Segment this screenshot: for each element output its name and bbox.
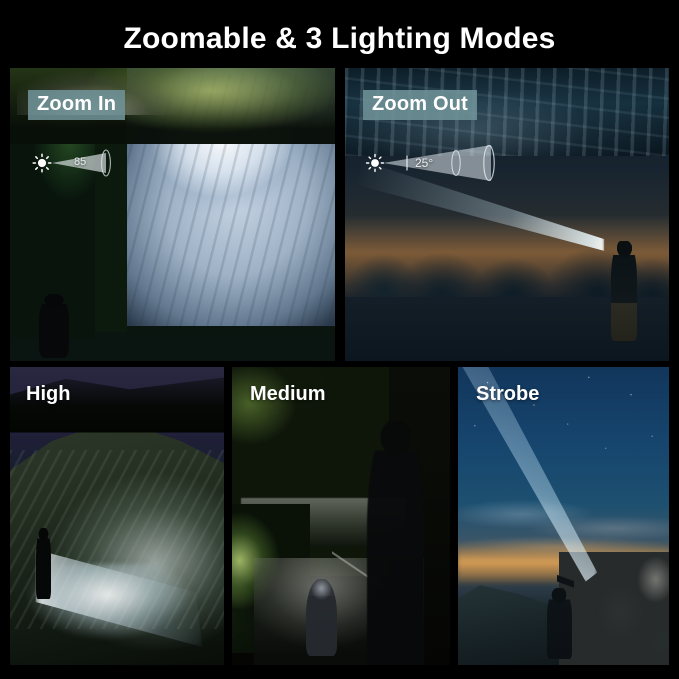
person-silhouette xyxy=(547,588,572,660)
sun-icon xyxy=(367,155,384,172)
panel-zoom-in: Zoom In 85 xyxy=(10,68,335,361)
zoom-in-label: Zoom In xyxy=(28,90,125,120)
foreground-rocks xyxy=(559,552,669,665)
person-silhouette xyxy=(367,421,424,665)
strobe-scene xyxy=(458,367,669,665)
beam-angle-diagram-narrow xyxy=(30,148,150,178)
zoom-out-label: Zoom Out xyxy=(363,90,477,120)
panel-medium: Medium xyxy=(232,367,450,665)
sun-icon xyxy=(33,154,51,172)
person-silhouette xyxy=(39,294,68,358)
panel-zoom-out: Zoom Out 25° xyxy=(345,68,669,361)
panel-strobe: Strobe xyxy=(458,367,669,665)
zoom-in-beam-angle-value: 85 xyxy=(74,156,86,168)
person-silhouette xyxy=(611,241,637,341)
beam-angle-diagram-wide xyxy=(363,142,509,184)
person-silhouette xyxy=(36,528,51,600)
panel-high: High xyxy=(10,367,224,665)
zoom-out-beam-indicator: 25° xyxy=(363,142,509,184)
infographic-root: Zoomable & 3 Lighting Modes Zoom In xyxy=(0,0,679,679)
zoom-in-beam-indicator: 85 xyxy=(30,148,150,178)
high-label: High xyxy=(26,383,70,406)
medium-label: Medium xyxy=(250,383,326,406)
strobe-label: Strobe xyxy=(476,383,539,406)
zoom-out-beam-angle-value: 25° xyxy=(415,156,433,170)
medium-scene xyxy=(232,367,450,665)
dog-silhouette xyxy=(306,579,337,656)
page-title: Zoomable & 3 Lighting Modes xyxy=(0,22,679,56)
high-scene xyxy=(10,367,224,665)
